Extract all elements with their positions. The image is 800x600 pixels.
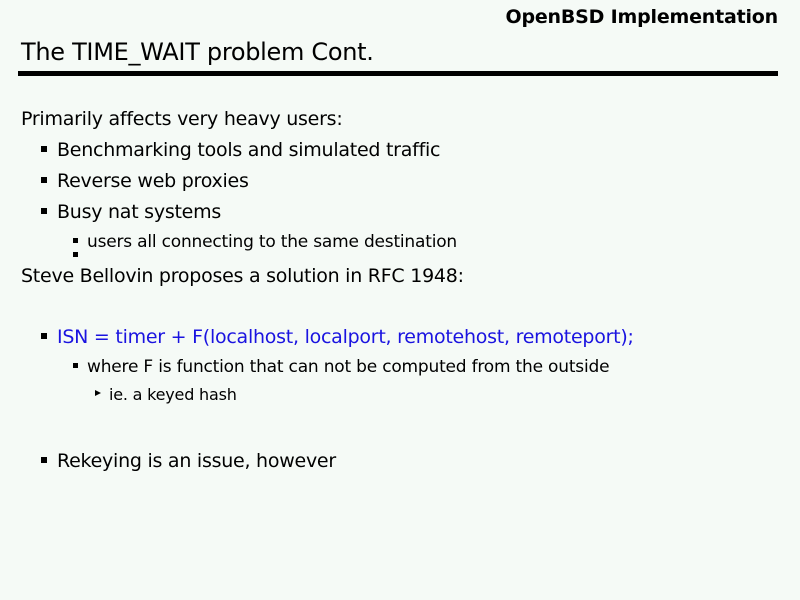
bullet-item: Steve Bellovin proposes a solution in RF…	[0, 261, 800, 292]
bullet-text: Steve Bellovin proposes a solution in RF…	[21, 261, 464, 292]
bullet-text: Reverse web proxies	[57, 166, 249, 197]
bullet-text: Busy nat systems	[57, 197, 221, 228]
bullet-text: Benchmarking tools and simulated traffic	[57, 135, 440, 166]
bullet-item: ie. a keyed hash	[0, 381, 800, 408]
bullet-item: Busy nat systems	[0, 197, 800, 228]
bullet-text: where F is function that can not be comp…	[87, 353, 609, 381]
square-bullet-icon	[41, 208, 47, 214]
bullet-item: Rekeying is an issue, however	[0, 446, 800, 477]
vertical-spacer	[0, 292, 800, 322]
square-bullet-icon	[41, 146, 47, 152]
bullet-item-isn-formula: ISN = timer + F(localhost, localport, re…	[0, 322, 800, 353]
square-bullet-icon	[73, 238, 78, 243]
bullet-item: Reverse web proxies	[0, 166, 800, 197]
slide-body: Primarily affects very heavy users: Benc…	[0, 104, 800, 477]
bullet-text: Primarily affects very heavy users:	[21, 104, 343, 135]
slide-header-label: OpenBSD Implementation	[20, 6, 778, 28]
bullet-text: ISN = timer + F(localhost, localport, re…	[57, 322, 634, 353]
bullet-text: Rekeying is an issue, however	[57, 446, 336, 477]
slide: OpenBSD Implementation The TIME_WAIT pro…	[0, 0, 800, 600]
square-bullet-icon	[41, 333, 47, 339]
bullet-item: where F is function that can not be comp…	[0, 353, 800, 381]
square-bullet-icon	[41, 457, 47, 463]
page-title: The TIME_WAIT problem Cont.	[21, 38, 374, 66]
bullet-text: users all connecting to the same destina…	[87, 228, 457, 256]
vertical-spacer	[0, 438, 800, 446]
square-bullet-icon	[73, 252, 78, 257]
triangle-bullet-icon	[95, 390, 101, 396]
bullet-text: ie. a keyed hash	[109, 381, 237, 408]
square-bullet-icon	[73, 363, 78, 368]
title-divider	[18, 71, 778, 76]
bullet-item: users all connecting to the same destina…	[0, 228, 800, 256]
square-bullet-icon	[41, 177, 47, 183]
vertical-spacer	[0, 408, 800, 438]
bullet-item: Primarily affects very heavy users:	[0, 104, 800, 135]
bullet-item: Benchmarking tools and simulated traffic	[0, 135, 800, 166]
